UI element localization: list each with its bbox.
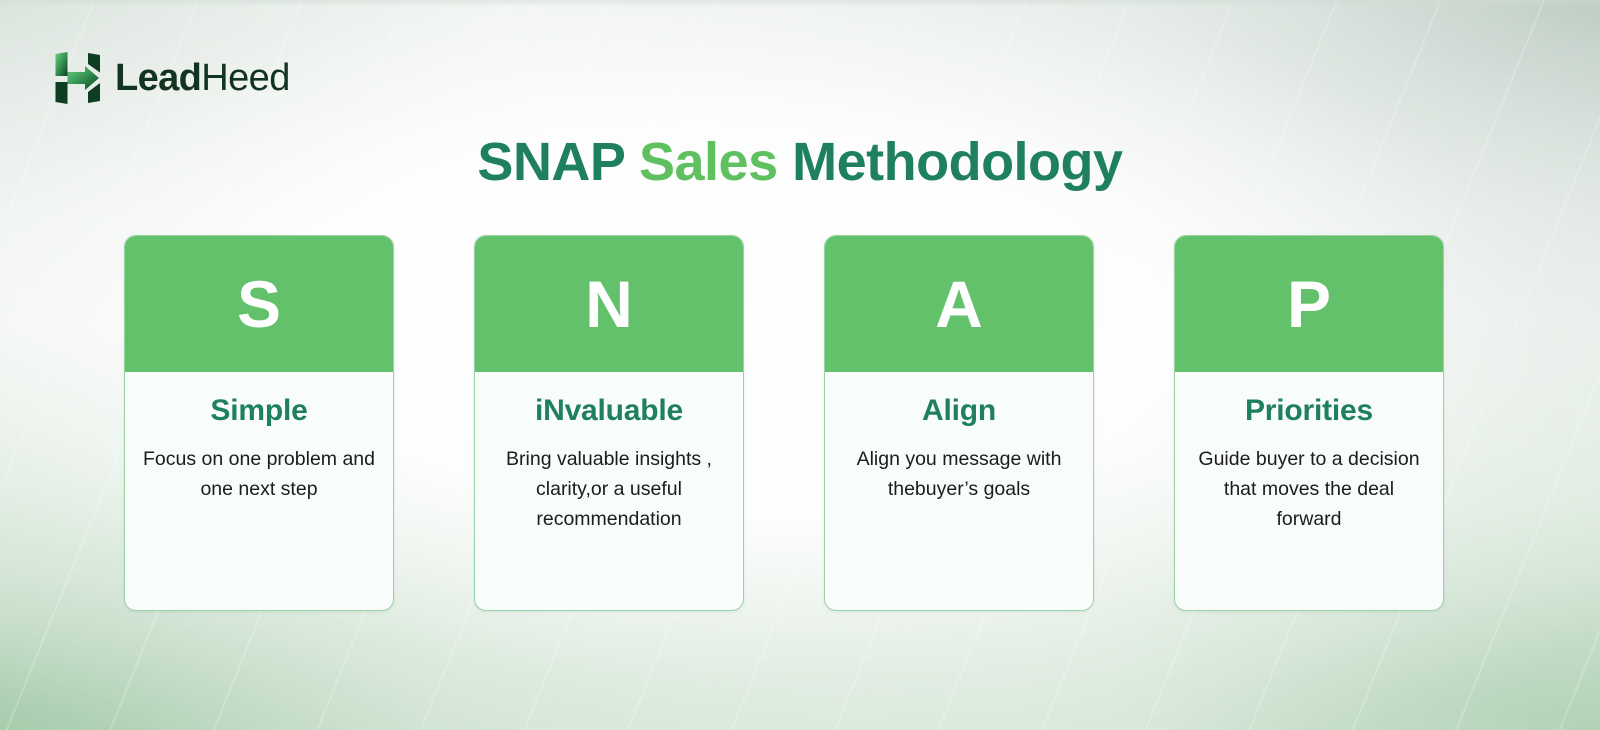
page-title: SNAP Sales Methodology xyxy=(0,134,1600,191)
brand-logo[interactable]: LeadHeed xyxy=(54,52,290,104)
snap-card-body: Simple Focus on one problem and one next… xyxy=(125,372,393,610)
snap-card-title: Simple xyxy=(141,394,377,427)
snap-card-letter: S xyxy=(124,235,394,372)
brand-wordmark-heed: Heed xyxy=(201,57,289,99)
page-title-sales: Sales xyxy=(639,132,778,192)
slide-canvas: LeadHeed SNAP Sales Methodology S Simple… xyxy=(0,0,1600,730)
snap-card-title: Priorities xyxy=(1191,394,1427,427)
snap-card-simple[interactable]: S Simple Focus on one problem and one ne… xyxy=(124,235,394,611)
snap-card-description: Guide buyer to a decision that moves the… xyxy=(1191,445,1427,534)
snap-card-body: Priorities Guide buyer to a decision tha… xyxy=(1175,372,1443,610)
snap-card-align[interactable]: A Align Align you message with thebuyer’… xyxy=(824,235,1094,611)
snap-card-priorities[interactable]: P Priorities Guide buyer to a decision t… xyxy=(1174,235,1444,611)
snap-card-title: iNvaluable xyxy=(491,394,727,427)
snap-card-title: Align xyxy=(841,394,1077,427)
snap-card-description: Focus on one problem and one next step xyxy=(141,445,377,505)
snap-card-letter: A xyxy=(824,235,1094,372)
snap-card-body: Align Align you message with thebuyer’s … xyxy=(825,372,1093,610)
snap-card-invaluable[interactable]: N iNvaluable Bring valuable insights , c… xyxy=(474,235,744,611)
page-title-snap: SNAP xyxy=(477,132,639,192)
leadheed-arrow-h-logo-icon xyxy=(54,52,102,104)
snap-card-row: S Simple Focus on one problem and one ne… xyxy=(124,235,1444,611)
snap-card-description: Align you message with thebuyer’s goals xyxy=(841,445,1077,505)
brand-wordmark: LeadHeed xyxy=(115,59,290,97)
snap-card-description: Bring valuable insights , clarity,or a u… xyxy=(491,445,727,534)
snap-card-letter: P xyxy=(1174,235,1444,372)
brand-wordmark-lead: Lead xyxy=(115,57,201,99)
snap-card-body: iNvaluable Bring valuable insights , cla… xyxy=(475,372,743,610)
page-title-methodology: Methodology xyxy=(778,132,1123,192)
snap-card-letter: N xyxy=(474,235,744,372)
